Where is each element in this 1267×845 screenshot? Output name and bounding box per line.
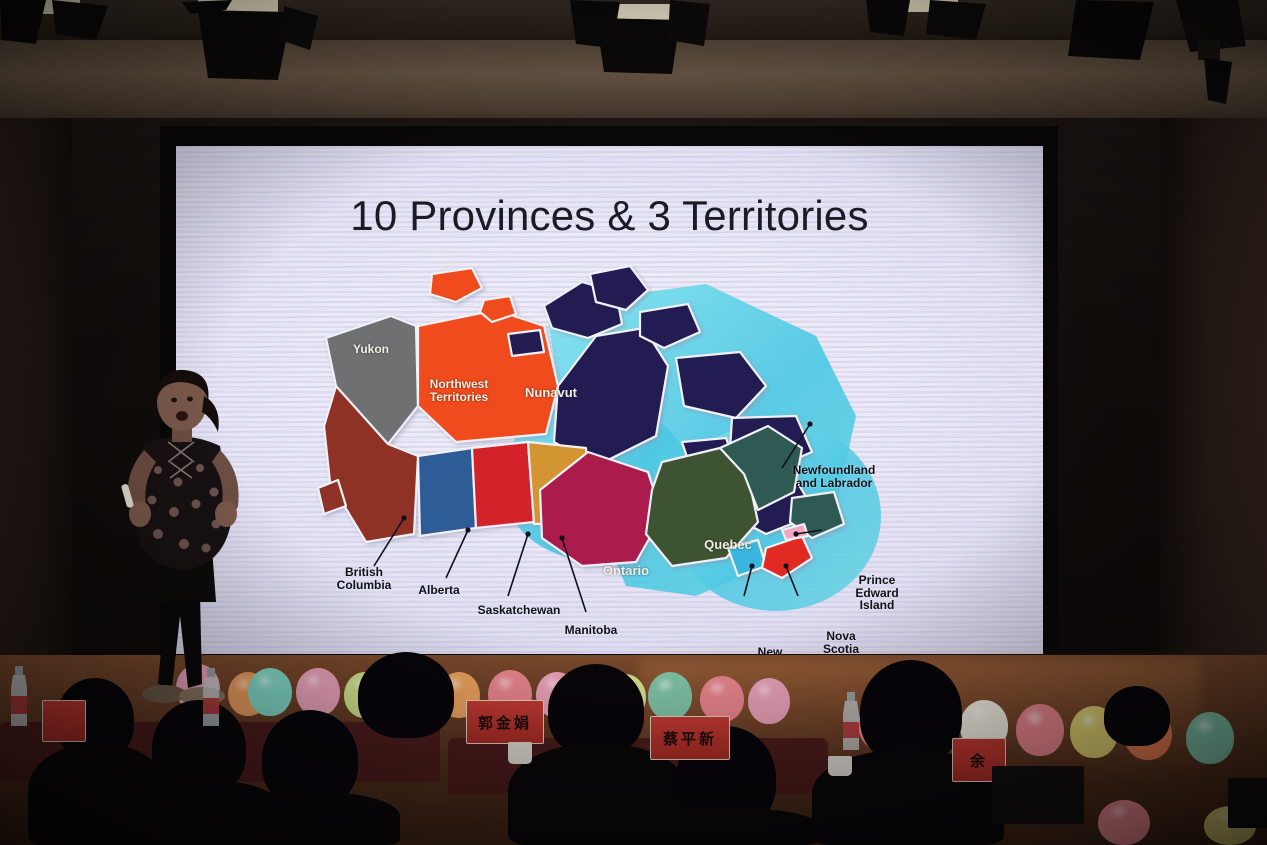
map-label-newfoundland-and-labrador: Newfoundland and Labrador: [776, 464, 892, 489]
balloon: [1098, 800, 1150, 845]
right-wall-pillar: [1160, 118, 1267, 678]
left-wall-pillar: [0, 118, 72, 678]
map-label-alberta: Alberta: [404, 584, 474, 597]
map-label-new-brunswick: New Brunswick: [732, 646, 808, 654]
paper-cup: [828, 756, 852, 776]
map-label-saskatchewan: Saskatchewan: [464, 604, 574, 617]
presenter: [96, 366, 266, 721]
audience-head: [860, 660, 962, 764]
water-bottle: [8, 666, 30, 730]
stage-light: [0, 0, 120, 70]
stage-light: [168, 0, 318, 92]
stage-light: [540, 0, 710, 80]
map-label-northwest-territories: Northwest Territories: [404, 378, 514, 403]
map-label-ontario: Ontario: [586, 564, 666, 578]
laptop[interactable]: [1228, 778, 1267, 828]
map-label-nunavut: Nunavut: [506, 386, 596, 400]
placard-text: 郭金娟: [478, 712, 532, 733]
map-label-quebec: Quebec: [688, 538, 768, 552]
name-placard: 郭金娟: [466, 700, 544, 744]
map-label-nova-scotia: Nova Scotia: [808, 630, 874, 654]
audience-body: [640, 808, 818, 845]
audience-head: [548, 664, 644, 756]
map-label-manitoba: Manitoba: [548, 624, 634, 637]
name-placard: 蔡平新: [650, 716, 730, 760]
stage-light: [1168, 0, 1267, 108]
balloon: [1186, 712, 1234, 764]
audience-body: [228, 792, 400, 845]
photograph-scene: 10 Provinces & 3 Territories: [0, 0, 1267, 845]
audience-head: [1104, 686, 1170, 746]
water-bottle: [840, 692, 862, 754]
map-label-yukon: Yukon: [336, 343, 406, 356]
map-label-british-columbia: British Columbia: [326, 566, 402, 591]
placard-text: 余: [970, 750, 988, 771]
balloon: [1016, 704, 1064, 756]
stage-light: [860, 0, 990, 60]
balloon: [648, 672, 692, 720]
balloon: [296, 668, 340, 716]
balloon: [748, 678, 790, 724]
water-bottle: [200, 668, 222, 730]
paper-cup: [508, 742, 532, 764]
stage-light: [1020, 0, 1160, 66]
laptop[interactable]: [992, 766, 1084, 824]
placard-text: 蔡平新: [663, 728, 717, 749]
projection-screen: 10 Provinces & 3 Territories: [176, 146, 1043, 654]
name-placard: [42, 700, 86, 742]
slide-title: 10 Provinces & 3 Territories: [176, 192, 1043, 240]
map-label-prince-edward-island: Prince Edward Island: [840, 574, 914, 612]
audience-head: [358, 652, 454, 738]
